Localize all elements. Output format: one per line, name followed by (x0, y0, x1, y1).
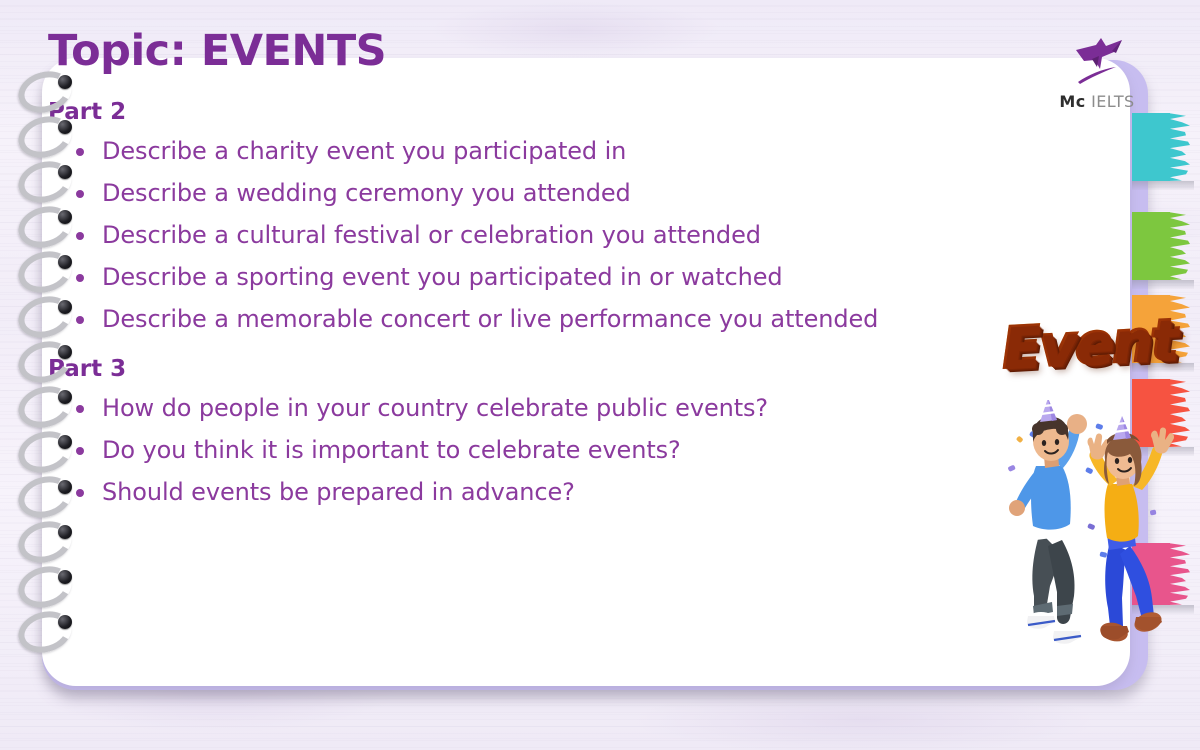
brand-wordmark-light: IELTS (1091, 92, 1134, 111)
spiral-ring (18, 342, 76, 382)
bird-logo-icon (1066, 36, 1128, 86)
list-item: Describe a charity event you participate… (64, 130, 1048, 172)
spiral-ring (18, 252, 76, 292)
brand-logo: Mc IELTS (1042, 36, 1152, 111)
tab-green-torn-edge (1168, 212, 1192, 280)
tab-teal-torn-edge (1168, 113, 1192, 181)
list-item: Describe a cultural festival or celebrat… (64, 214, 894, 256)
spiral-ring (18, 207, 76, 247)
tab-green-body (1132, 212, 1170, 280)
list-item: Describe a wedding ceremony you attended (64, 172, 1048, 214)
spiral-ring (18, 297, 76, 337)
slide-content: Topic: EVENTS Part 2 Describe a charity … (48, 30, 1048, 513)
page-title: Topic: EVENTS (48, 30, 1048, 73)
tab-green-shadow (1132, 280, 1194, 289)
spiral-ring (18, 612, 76, 652)
spiral-ring (18, 477, 76, 517)
spiral-binding (18, 72, 88, 672)
spiral-ring (18, 162, 76, 202)
tab-green[interactable] (1132, 212, 1194, 280)
spiral-ring (18, 72, 76, 112)
person-woman (1088, 416, 1175, 644)
spiral-ring (18, 522, 76, 562)
question-list-part-2: Describe a charity event you participate… (64, 130, 1048, 340)
tab-teal-shadow (1132, 181, 1194, 190)
event-3d-word: Event (1000, 307, 1178, 381)
section-heading-part-3: Part 3 (48, 356, 1048, 382)
list-item: How do people in your country celebrate … (64, 387, 894, 429)
list-item: Describe a sporting event you participat… (64, 256, 894, 298)
spiral-ring (18, 567, 76, 607)
brand-wordmark: Mc IELTS (1042, 92, 1152, 111)
section-heading-part-2: Part 2 (48, 99, 1048, 125)
spiral-ring (18, 117, 76, 157)
tab-teal-body (1132, 113, 1170, 181)
brand-wordmark-bold: Mc (1059, 92, 1085, 111)
tab-teal[interactable] (1132, 113, 1194, 181)
spiral-ring (18, 387, 76, 427)
question-list-part-3: How do people in your country celebrate … (64, 387, 1048, 513)
two-people-celebrating-illustration (1000, 400, 1190, 650)
person-man (1009, 400, 1087, 645)
list-item: Do you think it is important to celebrat… (64, 429, 1048, 471)
list-item: Describe a memorable concert or live per… (64, 298, 894, 340)
spiral-ring (18, 432, 76, 472)
list-item: Should events be prepared in advance? (64, 471, 1048, 513)
